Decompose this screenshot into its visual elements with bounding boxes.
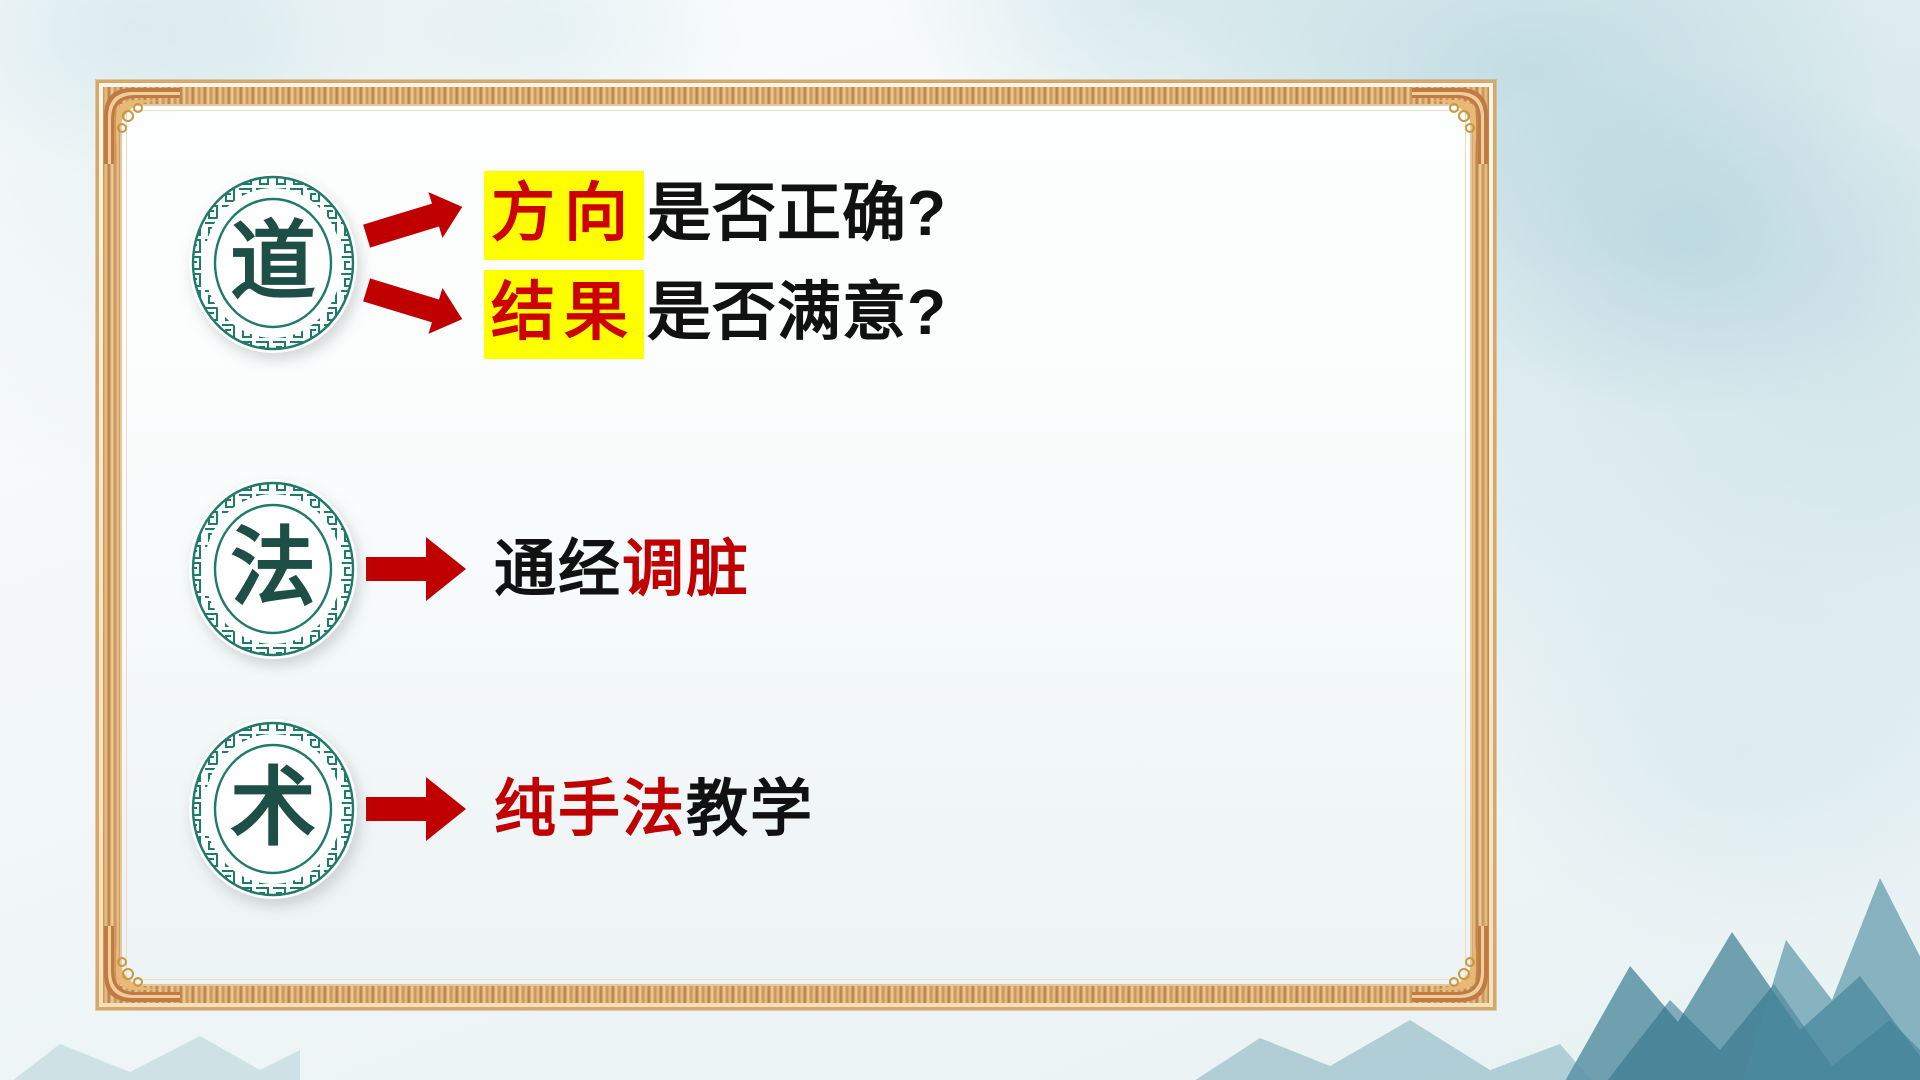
medallion-dao[interactable]: 道 [186,170,360,356]
dao-line-2: 结果是否满意? [484,280,947,345]
shu-line: 纯手法教学 [494,778,814,840]
dao-line-1-rest: 是否正确 [647,177,907,251]
dao-line-2-highlight: 结果 [484,270,644,359]
medallion-shu[interactable]: 术 [186,716,360,902]
medallion-fa-label: 法 [186,476,360,662]
fa-line: 通经调脏 [494,538,750,600]
row-shu: 术 纯手法教学 [186,716,814,902]
dao-line-1: 方向是否正确? [484,181,947,246]
mountain-silhouette [1740,800,1920,1080]
medallion-dao-label: 道 [186,170,360,356]
dao-line-2-question-mark: ? [907,276,947,348]
cloud-decoration [1480,540,1920,960]
arrow-right-icon [364,532,468,606]
slide-content: 道 [96,80,1496,1010]
medallion-fa[interactable]: 法 [186,476,360,662]
dao-line-1-highlight: 方向 [484,171,644,260]
fa-text-block: 通经调脏 [494,538,750,600]
double-arrow-right-icon [360,170,478,356]
mountain-silhouette [1560,880,1920,1080]
shu-text-red: 纯手法 [494,772,686,845]
fa-text-black: 通经 [494,532,622,605]
row-dao: 道 [186,170,947,356]
fa-text-red: 调脏 [622,532,750,605]
arrow-right-icon [364,772,468,846]
row-fa: 法 通经调脏 [186,476,750,662]
shu-text-block: 纯手法教学 [494,778,814,840]
decorative-frame: 道 [96,80,1496,1010]
slide-root: 道 [0,0,1920,1080]
shu-text-black: 教学 [686,772,814,845]
mountain-silhouette [1180,1000,1600,1080]
medallion-shu-label: 术 [186,716,360,902]
dao-line-1-question-mark: ? [907,177,947,249]
dao-text-block: 方向是否正确? 结果是否满意? [484,181,947,345]
dao-line-2-rest: 是否满意 [647,276,907,350]
mountain-silhouette [0,1010,300,1080]
